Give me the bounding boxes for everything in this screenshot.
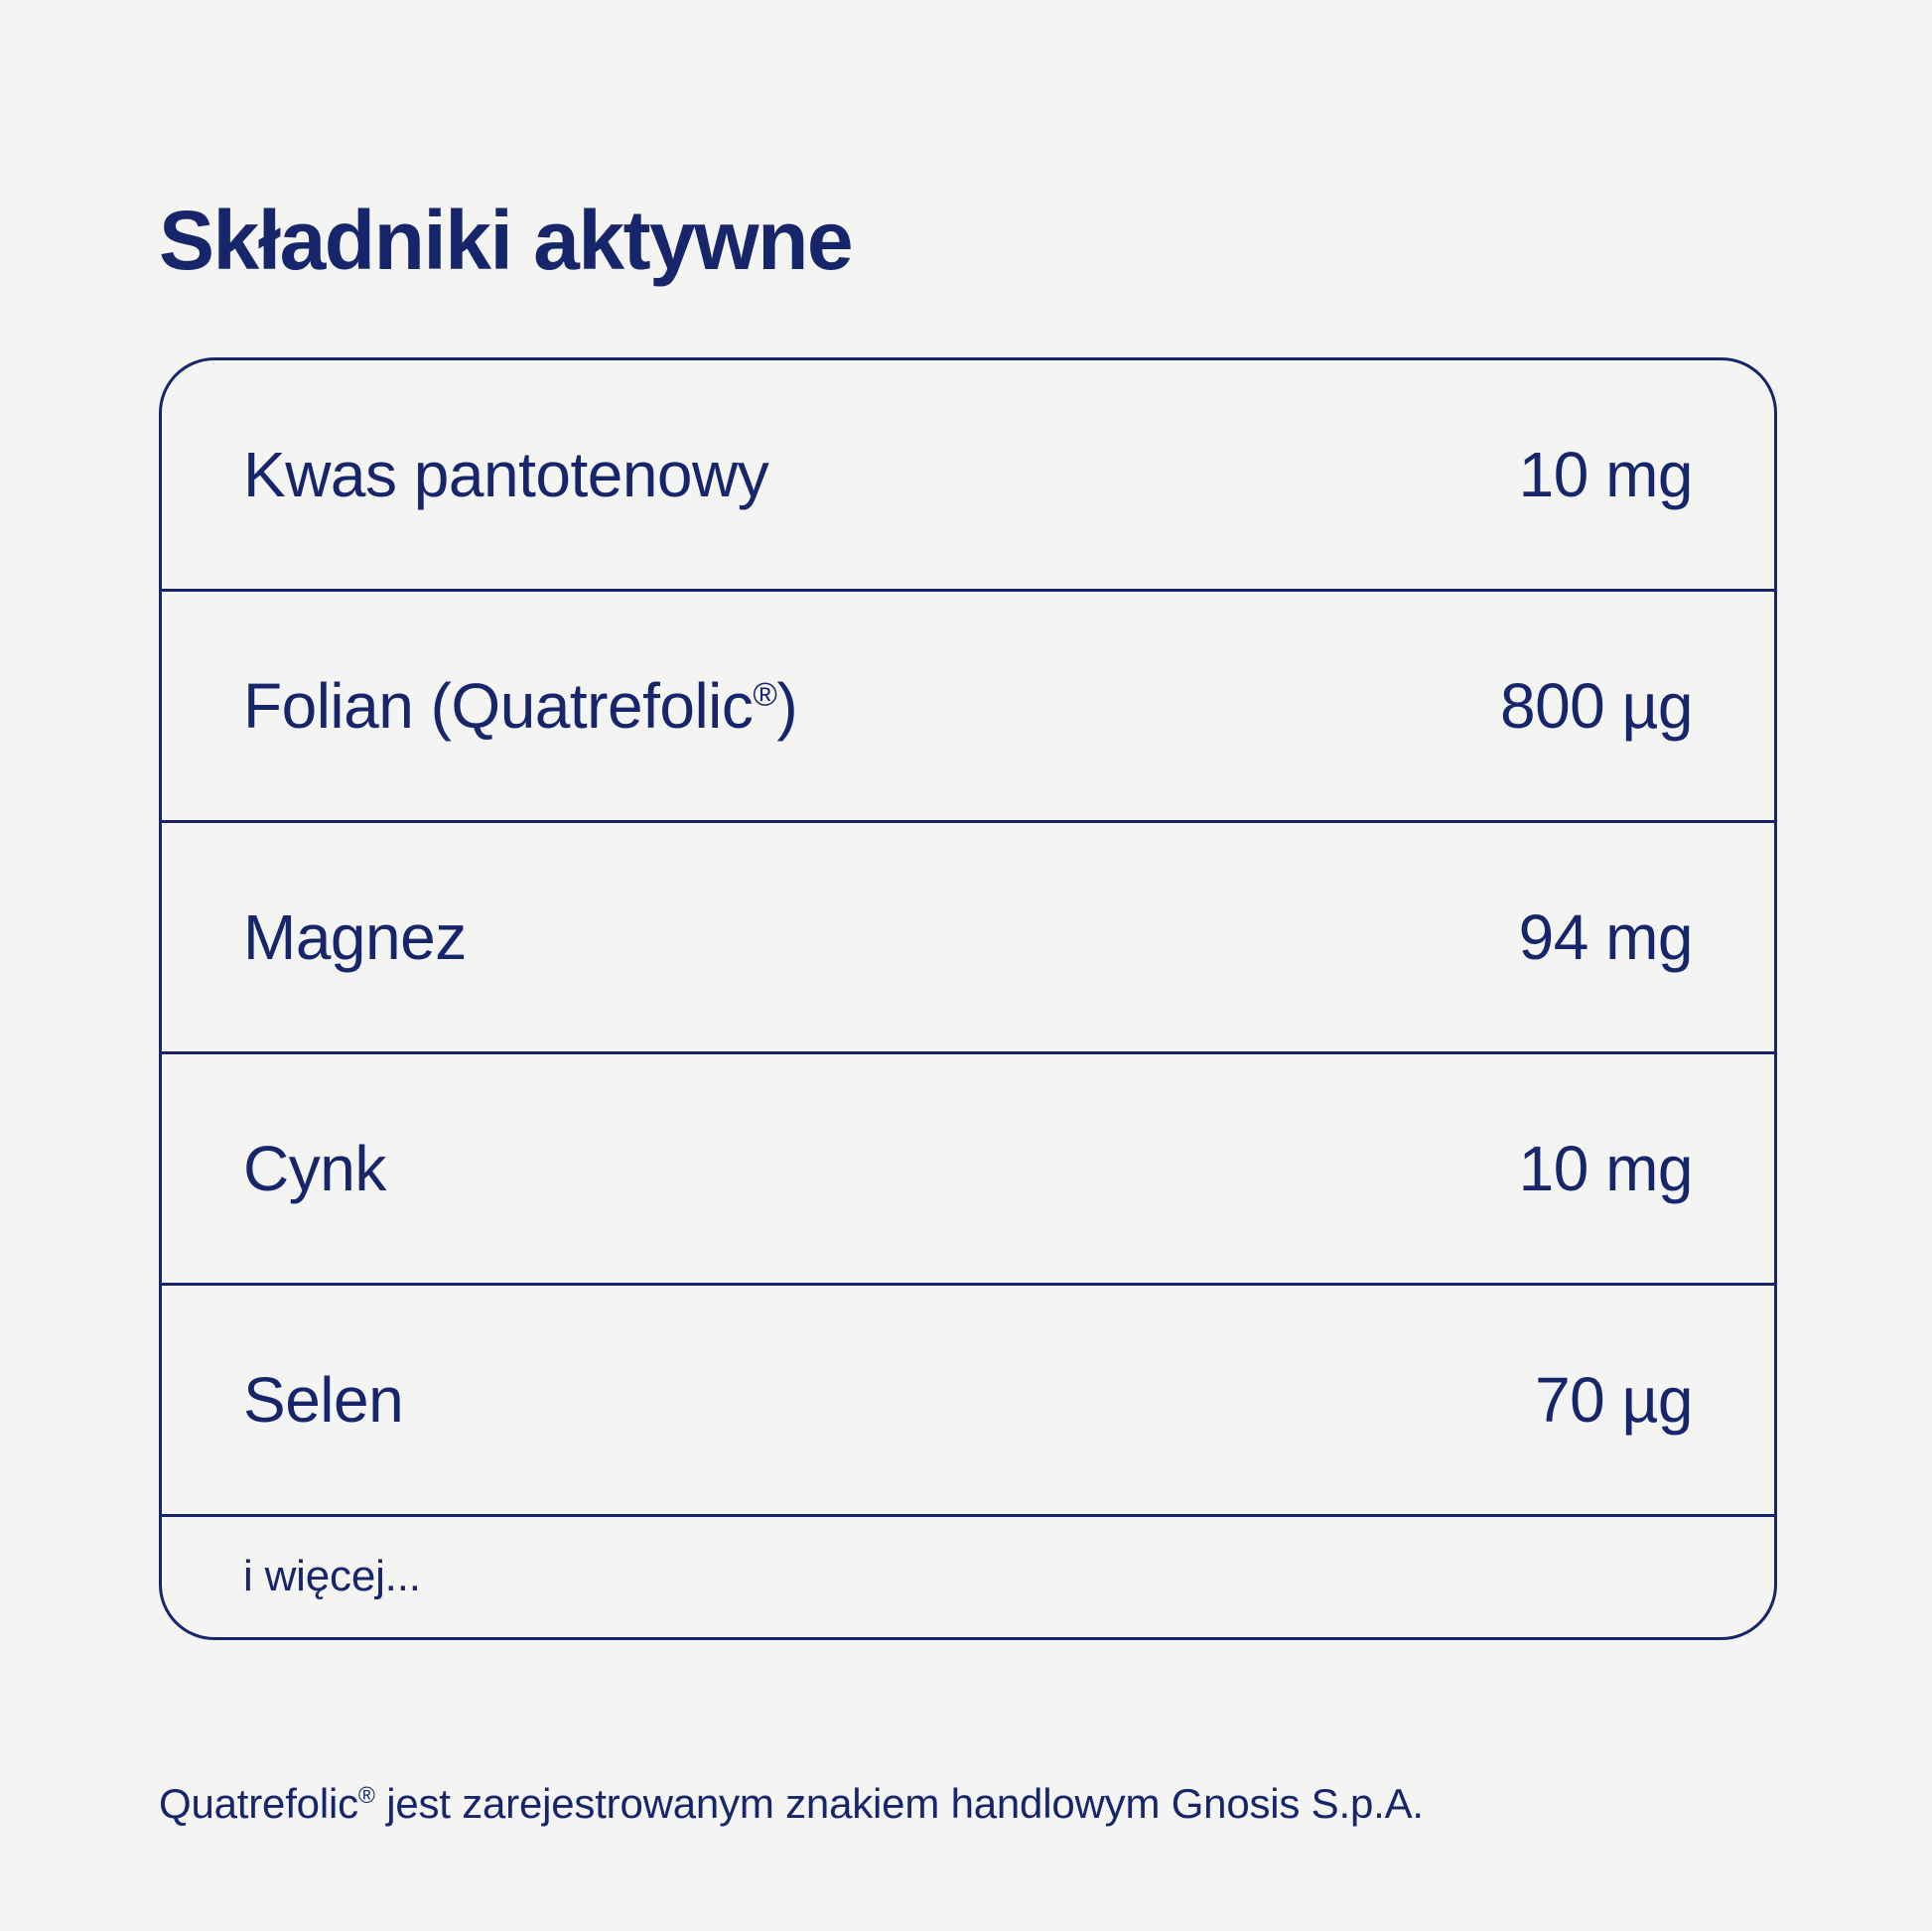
trademark-footnote: Quatrefolic® jest zarejestrowanym znakie…: [159, 1779, 1424, 1829]
ingredient-name-tail: ): [776, 670, 797, 742]
ingredient-name-text: Folian (Quatrefolic: [243, 670, 753, 742]
table-row: Magnez 94 mg: [162, 823, 1774, 1054]
ingredients-card: Kwas pantotenowy 10 mg Folian (Quatrefol…: [159, 357, 1777, 1640]
ingredients-list: Kwas pantotenowy 10 mg Folian (Quatrefol…: [162, 360, 1774, 1637]
ingredient-name: Cynk: [243, 1134, 386, 1203]
ingredients-panel: Składniki aktywne Kwas pantotenowy 10 mg…: [0, 0, 1932, 1931]
ingredient-name: Selen: [243, 1365, 403, 1435]
ingredient-name-text: Magnez: [243, 901, 467, 973]
page-title: Składniki aktywne: [159, 197, 852, 284]
ingredient-name: Kwas pantotenowy: [243, 440, 768, 509]
more-ingredients-row: i więcej...: [162, 1517, 1774, 1637]
ingredient-name: Magnez: [243, 902, 467, 972]
table-row: Kwas pantotenowy 10 mg: [162, 360, 1774, 592]
ingredient-amount: 10 mg: [1519, 1134, 1693, 1203]
ingredient-name-text: Cynk: [243, 1133, 386, 1204]
ingredient-amount: 800 µg: [1500, 671, 1693, 741]
table-row: Cynk 10 mg: [162, 1054, 1774, 1286]
footnote-tail: jest zarejestrowanym znakiem handlowym G…: [375, 1780, 1424, 1827]
registered-trademark-icon: ®: [358, 1782, 375, 1808]
registered-trademark-icon: ®: [753, 676, 776, 713]
ingredient-name-text: Kwas pantotenowy: [243, 439, 768, 510]
more-ingredients-label: i więcej...: [243, 1553, 421, 1600]
ingredient-name-text: Selen: [243, 1364, 403, 1436]
table-row: Folian (Quatrefolic®) 800 µg: [162, 592, 1774, 823]
ingredient-name: Folian (Quatrefolic®): [243, 671, 797, 741]
table-row: Selen 70 µg: [162, 1286, 1774, 1517]
footnote-lead: Quatrefolic: [159, 1780, 358, 1827]
ingredient-amount: 94 mg: [1519, 902, 1693, 972]
ingredient-amount: 10 mg: [1519, 440, 1693, 509]
ingredient-amount: 70 µg: [1535, 1365, 1693, 1435]
